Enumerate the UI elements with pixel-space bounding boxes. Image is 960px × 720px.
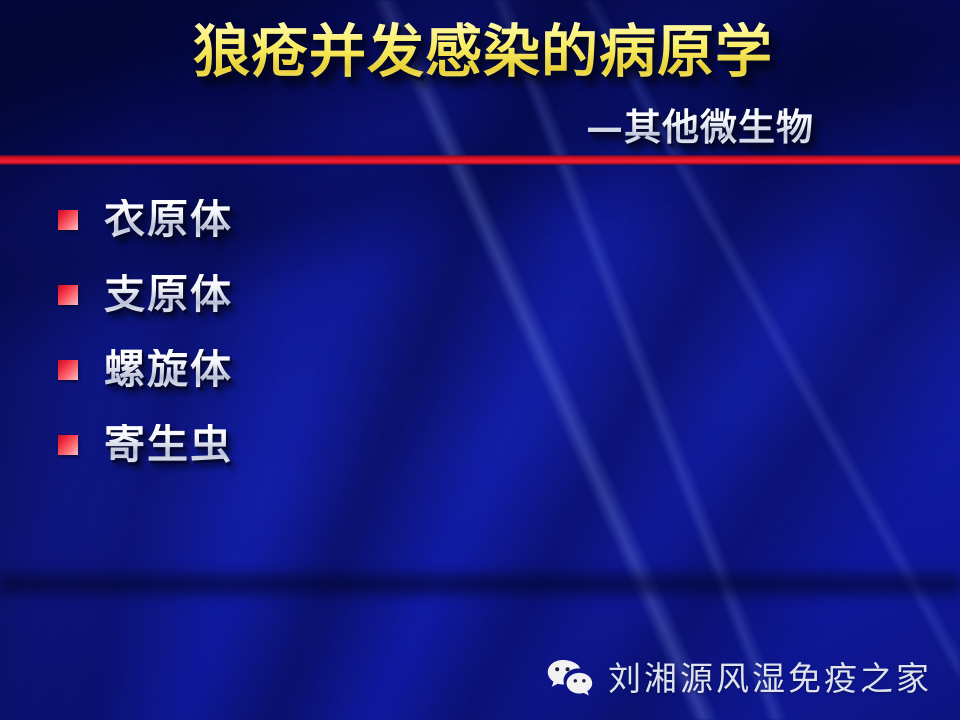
red-square-bullet-icon (58, 210, 78, 230)
header-divider (0, 155, 960, 165)
list-item-label: 衣原体 (104, 199, 233, 240)
list-item-label: 支原体 (104, 274, 233, 315)
red-square-bullet-icon (58, 285, 78, 305)
red-square-bullet-icon (58, 360, 78, 380)
bullet-list: 衣原体 支原体 螺旋体 寄生虫 (58, 182, 233, 482)
wechat-icon (546, 658, 594, 698)
slide-title: 狼疮并发感染的病原学 (0, 22, 960, 82)
slide-subtitle: —其他微生物 (586, 108, 814, 147)
list-item: 支原体 (58, 257, 233, 332)
footer-watermark-label: 刘湘源风湿免疫之家 (608, 662, 932, 695)
list-item: 寄生虫 (58, 407, 233, 482)
footer-watermark: 刘湘源风湿免疫之家 (546, 658, 932, 698)
list-item-label: 螺旋体 (104, 349, 233, 390)
red-square-bullet-icon (58, 435, 78, 455)
list-item-label: 寄生虫 (104, 424, 233, 465)
list-item: 衣原体 (58, 182, 233, 257)
list-item: 螺旋体 (58, 332, 233, 407)
presentation-slide: 狼疮并发感染的病原学 —其他微生物 衣原体 支原体 螺旋体 寄生虫 (0, 0, 960, 720)
